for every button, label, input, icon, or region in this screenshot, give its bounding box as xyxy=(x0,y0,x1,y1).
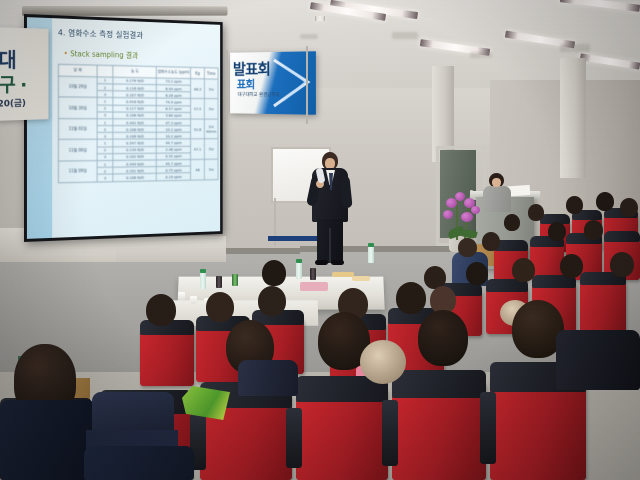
audience-head xyxy=(512,258,535,282)
slide-bullet: • Stack sampling 결과 xyxy=(64,48,139,61)
lecture-hall-photo: ❄ ❄ ❄ ❄ 4. 염화수소 측정 실험결과 • Stack sampling… xyxy=(0,0,640,480)
banner-left-line3: 20(금) xyxy=(0,96,26,110)
wall-pillar xyxy=(560,58,586,178)
wall-panel xyxy=(116,236,226,262)
banner-left-line1: 대 xyxy=(0,43,16,73)
audience-head xyxy=(584,220,603,240)
orchid-flower xyxy=(443,210,453,219)
audience-head xyxy=(258,286,286,316)
bottle-cap xyxy=(296,259,302,263)
cell-kg: 47.1 xyxy=(191,139,205,159)
audience-head xyxy=(504,214,520,231)
audience-head xyxy=(396,282,426,314)
audience-head xyxy=(206,292,234,322)
cell-hcl: 47.3 ppm xyxy=(156,119,190,126)
audience-coat xyxy=(0,400,96,480)
seat-headrest xyxy=(392,370,486,398)
audience-head xyxy=(528,204,544,221)
banner-pole xyxy=(306,46,308,124)
col-concentration: 농 도 xyxy=(113,66,156,78)
audience-head xyxy=(482,232,500,251)
speaker-shoe xyxy=(331,260,344,265)
audience-head xyxy=(596,192,614,211)
cell-no: 1 xyxy=(97,119,113,126)
audience-head xyxy=(466,262,488,285)
auditorium-seat xyxy=(140,326,194,386)
bullet-marker-icon: • xyxy=(64,49,68,58)
podium-person-torso xyxy=(483,186,511,212)
seat-armrest xyxy=(382,400,398,466)
orchid-flower xyxy=(455,192,465,201)
audience-coat xyxy=(556,330,640,390)
banner-pole xyxy=(226,50,228,120)
bottle-cap xyxy=(368,243,374,247)
paper-cup xyxy=(190,296,197,304)
cell-hcl: 0.19 ppm xyxy=(156,173,190,180)
ceiling-vent xyxy=(300,34,318,39)
water-bottle xyxy=(296,262,302,279)
audience-head xyxy=(146,294,176,326)
snack-plate xyxy=(352,276,370,281)
table-row: 11월 02일10.442 N/D47.3 ppm52.61hr 40min xyxy=(58,119,218,126)
col-hcl: 염화수소농도 (ppm) xyxy=(156,67,190,79)
table-body: 10월 29일10.276 N/D73.2 ppm48.37hr20.116 N… xyxy=(58,76,218,182)
audience-coat xyxy=(238,360,298,396)
col-time: Time xyxy=(204,68,218,79)
seat-armrest xyxy=(480,392,496,464)
cell-no: 2 xyxy=(97,126,113,133)
seat-armrest xyxy=(286,408,302,468)
fur-hood xyxy=(360,340,406,384)
cell-time: 7hr xyxy=(204,99,218,119)
bottle-cap xyxy=(200,269,206,273)
cell-date: 11월 02일 xyxy=(58,119,96,140)
banner-left: 대 구 · 20(금) xyxy=(0,27,48,121)
speaker-leg-split xyxy=(329,228,331,263)
cell-date: 10월 29일 xyxy=(58,76,96,98)
cell-date: 11월 09일 xyxy=(58,161,96,183)
projection-screen: ❄ ❄ ❄ ❄ 4. 염화수소 측정 실험결과 • Stack sampling… xyxy=(24,14,223,242)
cell-concentration: 0.442 N/D xyxy=(113,119,156,126)
podium-person-face xyxy=(492,178,501,187)
audience-coat xyxy=(84,446,194,480)
audience-head xyxy=(262,260,286,286)
audience-head xyxy=(418,310,468,366)
snack-plate xyxy=(332,272,354,277)
ceiling-vent xyxy=(392,32,418,39)
orchid-flower xyxy=(471,206,480,214)
ceiling-vent xyxy=(470,52,492,58)
audience-head xyxy=(548,222,566,241)
beverage-can xyxy=(216,276,222,288)
cell-kg: 46 xyxy=(191,159,205,179)
cell-time: 7hr xyxy=(204,139,218,159)
cell-kg: 52.6 xyxy=(191,119,205,139)
audience-head xyxy=(560,254,583,278)
table-cloth-pink xyxy=(300,282,328,291)
cell-no: 3 xyxy=(97,112,113,119)
audience-head xyxy=(458,238,477,257)
cell-concentration: 0.108 N/D xyxy=(113,174,156,182)
cell-time: 7hr xyxy=(204,79,218,99)
audience-head xyxy=(566,196,583,214)
water-bottle xyxy=(368,246,374,263)
slide-data-table: 날 짜 농 도 염화수소농도 (ppm) Kg Time 10월 29일10.2… xyxy=(58,64,219,183)
cell-kg: 48.3 xyxy=(191,78,205,98)
col-no xyxy=(97,65,113,77)
cell-date: 11월 06일 xyxy=(58,140,96,161)
ceiling-vent xyxy=(560,44,590,52)
cell-time: 7hr xyxy=(204,159,218,179)
slide-bullet-text: Stack sampling 결과 xyxy=(70,49,138,60)
banner-right: 발표회 표회 대구대학교 환경공학과 xyxy=(230,51,316,114)
audience-head xyxy=(610,252,634,277)
cell-time: 1hr 40min xyxy=(204,119,218,139)
col-kg: Kg xyxy=(191,67,205,78)
paper-cup xyxy=(178,292,185,300)
cell-kg: 57.5 xyxy=(191,99,205,119)
water-bottle xyxy=(200,272,206,289)
beverage-can xyxy=(232,274,238,286)
col-date: 날 짜 xyxy=(58,64,96,76)
audience-head xyxy=(620,198,638,217)
seat-headrest xyxy=(604,231,640,242)
presentation-slide: ❄ ❄ ❄ ❄ 4. 염화수소 측정 실험결과 • Stack sampling… xyxy=(27,17,220,239)
orchid-flower xyxy=(461,212,473,222)
fluorescent-ceiling-light xyxy=(315,16,325,21)
banner-left-line2: 구 · xyxy=(0,70,26,97)
slide-title: 4. 염화수소 측정 실험결과 xyxy=(58,27,143,41)
speaker-shoe xyxy=(315,260,328,265)
banner-sub-text: 표회 xyxy=(237,76,255,92)
beverage-can xyxy=(310,268,316,280)
cell-date: 10월 30일 xyxy=(58,97,96,118)
cell-no: 3 xyxy=(97,174,113,181)
auditorium-seat xyxy=(580,278,626,332)
